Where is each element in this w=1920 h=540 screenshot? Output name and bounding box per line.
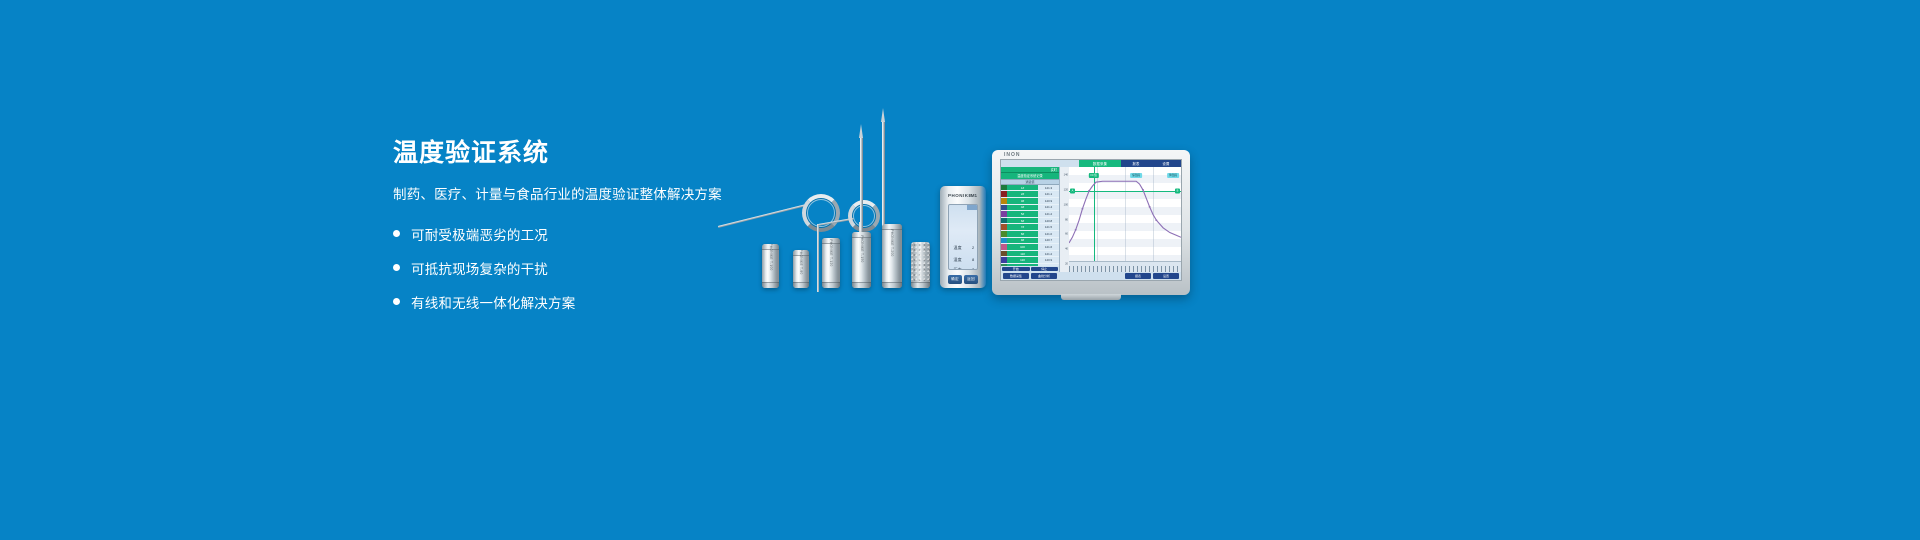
feature-label: 有线和无线一体化解决方案 [411, 292, 575, 312]
tab-data-collection[interactable]: 数据采集 [1079, 160, 1121, 167]
stop-button[interactable]: 停止 [1031, 267, 1059, 271]
feature-label: 可耐受极端恶劣的工况 [411, 224, 548, 244]
temperature-curve [1069, 181, 1181, 243]
bullet-dot-icon [393, 298, 400, 305]
table-row[interactable]: 5#121.2 [1001, 211, 1059, 218]
curve-svg [1069, 167, 1181, 262]
table-row[interactable]: 8#121.0 [1001, 231, 1059, 238]
channel-value: 121.5 [1038, 224, 1059, 230]
channel-name: 7# [1007, 224, 1038, 230]
handheld-reader: PHONIKE M1 温度 2 湿度 8 压力 7 确定 返回 [940, 186, 986, 288]
channel-value: 120.8 [1038, 218, 1059, 224]
y-tick-label: 80 [1065, 218, 1068, 221]
handheld-brand: PHONIKE [948, 193, 972, 198]
channel-name: 3# [1007, 198, 1038, 204]
handheld-row-label: 湿度 [953, 257, 961, 263]
bottom-button-curve-analysis[interactable]: 曲线分析 [1031, 273, 1057, 279]
y-tick-label: 60 [1065, 233, 1068, 236]
timeline-scrollbar[interactable] [1069, 261, 1181, 272]
handheld-row-value: 2 [972, 245, 974, 250]
channel-name: 12# [1007, 257, 1038, 263]
handheld-status-bar [967, 205, 977, 210]
channel-name: 1# [1007, 185, 1038, 191]
software-bottom-toolbar: 数据采集 曲线分析 报表 设置 [1001, 272, 1181, 280]
table-row[interactable]: 9#120.7 [1001, 238, 1059, 245]
handheld-row-value: 8 [972, 257, 974, 262]
channel-name: 4# [1007, 205, 1038, 211]
probe-coil [802, 194, 840, 232]
product-imagery: PHONIKE T-100 PHONIKE T-80 PHONIKE T-120… [700, 120, 1240, 310]
table-row[interactable]: 7#121.5 [1001, 224, 1059, 231]
data-logger: PHONIKE T-80 [793, 250, 809, 288]
handheld-back-button[interactable]: 返回 [964, 275, 978, 284]
data-logger: PHONIKE T-150 [852, 232, 871, 288]
monitor-screen: 数据采集 报表 设置 实时 温度验证系统记录 通道值 1#121.3 2#121… [1000, 159, 1182, 281]
plot-area: A B F0 值 保温段 降温段 [1069, 167, 1181, 262]
channel-name: 8# [1007, 231, 1038, 237]
table-row[interactable]: 1#121.3 [1001, 185, 1059, 192]
probe-coil [848, 200, 880, 232]
table-row[interactable]: 6#120.8 [1001, 218, 1059, 225]
table-row[interactable]: 10#121.6 [1001, 244, 1059, 251]
handheld-row-label: 压力 [953, 267, 961, 270]
tab-report[interactable]: 报表 [1121, 160, 1151, 167]
channel-data-panel: 实时 温度验证系统记录 通道值 1#121.3 2#121.1 3#120.9 … [1001, 167, 1060, 272]
monitor-stand [1061, 294, 1121, 300]
y-tick-label: 20 [1065, 262, 1068, 265]
channel-name: 6# [1007, 218, 1038, 224]
channel-value: 121.2 [1038, 211, 1059, 217]
bottom-button-data-collection[interactable]: 数据采集 [1003, 273, 1029, 279]
table-row[interactable]: 11#121.2 [1001, 251, 1059, 258]
monitor-brand: INON [1004, 152, 1021, 158]
channel-value: 120.9 [1038, 257, 1059, 263]
channel-name: 10# [1007, 244, 1038, 250]
data-logger-mesh [911, 242, 930, 288]
channel-name: 2# [1007, 191, 1038, 197]
bottom-button-settings[interactable]: 设置 [1153, 273, 1179, 279]
bullet-dot-icon [393, 230, 400, 237]
channel-value: 121.2 [1038, 251, 1059, 257]
channel-value: 121.6 [1038, 244, 1059, 250]
handheld-row-label: 温度 [953, 245, 961, 251]
bottom-button-report[interactable]: 报表 [1125, 273, 1151, 279]
table-row[interactable]: 3#120.9 [1001, 198, 1059, 205]
data-logger: PHONIKE T-200 [882, 224, 902, 288]
channel-value: 121.0 [1038, 231, 1059, 237]
table-row[interactable]: 2#121.1 [1001, 191, 1059, 198]
temperature-chart: 140 120 100 80 60 40 20 [1060, 167, 1181, 272]
monitor: INON 数据采集 报表 设置 实时 温度验证系统记录 通道值 1#121.3 [992, 150, 1190, 295]
channel-value: 121.1 [1038, 191, 1059, 197]
y-tick-label: 120 [1064, 189, 1068, 192]
tab-settings[interactable]: 设置 [1151, 160, 1181, 167]
start-button[interactable]: 开始 [1002, 267, 1030, 271]
y-tick-label: 100 [1064, 203, 1068, 206]
handheld-row-value: 7 [972, 267, 974, 270]
table-row[interactable]: 4#121.4 [1001, 205, 1059, 212]
channel-name: 9# [1007, 238, 1038, 244]
feature-label: 可抵抗现场复杂的干扰 [411, 258, 548, 278]
software-top-tabs: 数据采集 报表 设置 [1001, 160, 1181, 167]
y-tick-label: 40 [1065, 247, 1068, 250]
channel-value: 121.3 [1038, 185, 1059, 191]
table-row[interactable]: 12#120.9 [1001, 257, 1059, 264]
time-ruler [1069, 266, 1181, 272]
bullet-dot-icon [393, 264, 400, 271]
data-logger: PHONIKE T-120 [822, 238, 840, 288]
y-tick-label: 140 [1064, 174, 1068, 177]
handheld-confirm-button[interactable]: 确定 [948, 275, 962, 284]
channel-name: 5# [1007, 211, 1038, 217]
channel-value: 120.9 [1038, 198, 1059, 204]
handheld-screen: 温度 2 湿度 8 压力 7 [948, 204, 978, 270]
channel-value: 121.4 [1038, 205, 1059, 211]
handheld-model: M1 [971, 193, 977, 198]
channel-value: 120.7 [1038, 238, 1059, 244]
channel-name: 11# [1007, 251, 1038, 257]
channel-rows: 1#121.3 2#121.1 3#120.9 4#121.4 5#121.2 … [1001, 185, 1059, 266]
data-logger: PHONIKE T-100 [762, 244, 779, 288]
hero-banner: 温度验证系统 制药、医疗、计量与食品行业的温度验证整体解决方案 可耐受极端恶劣的… [0, 0, 1920, 540]
